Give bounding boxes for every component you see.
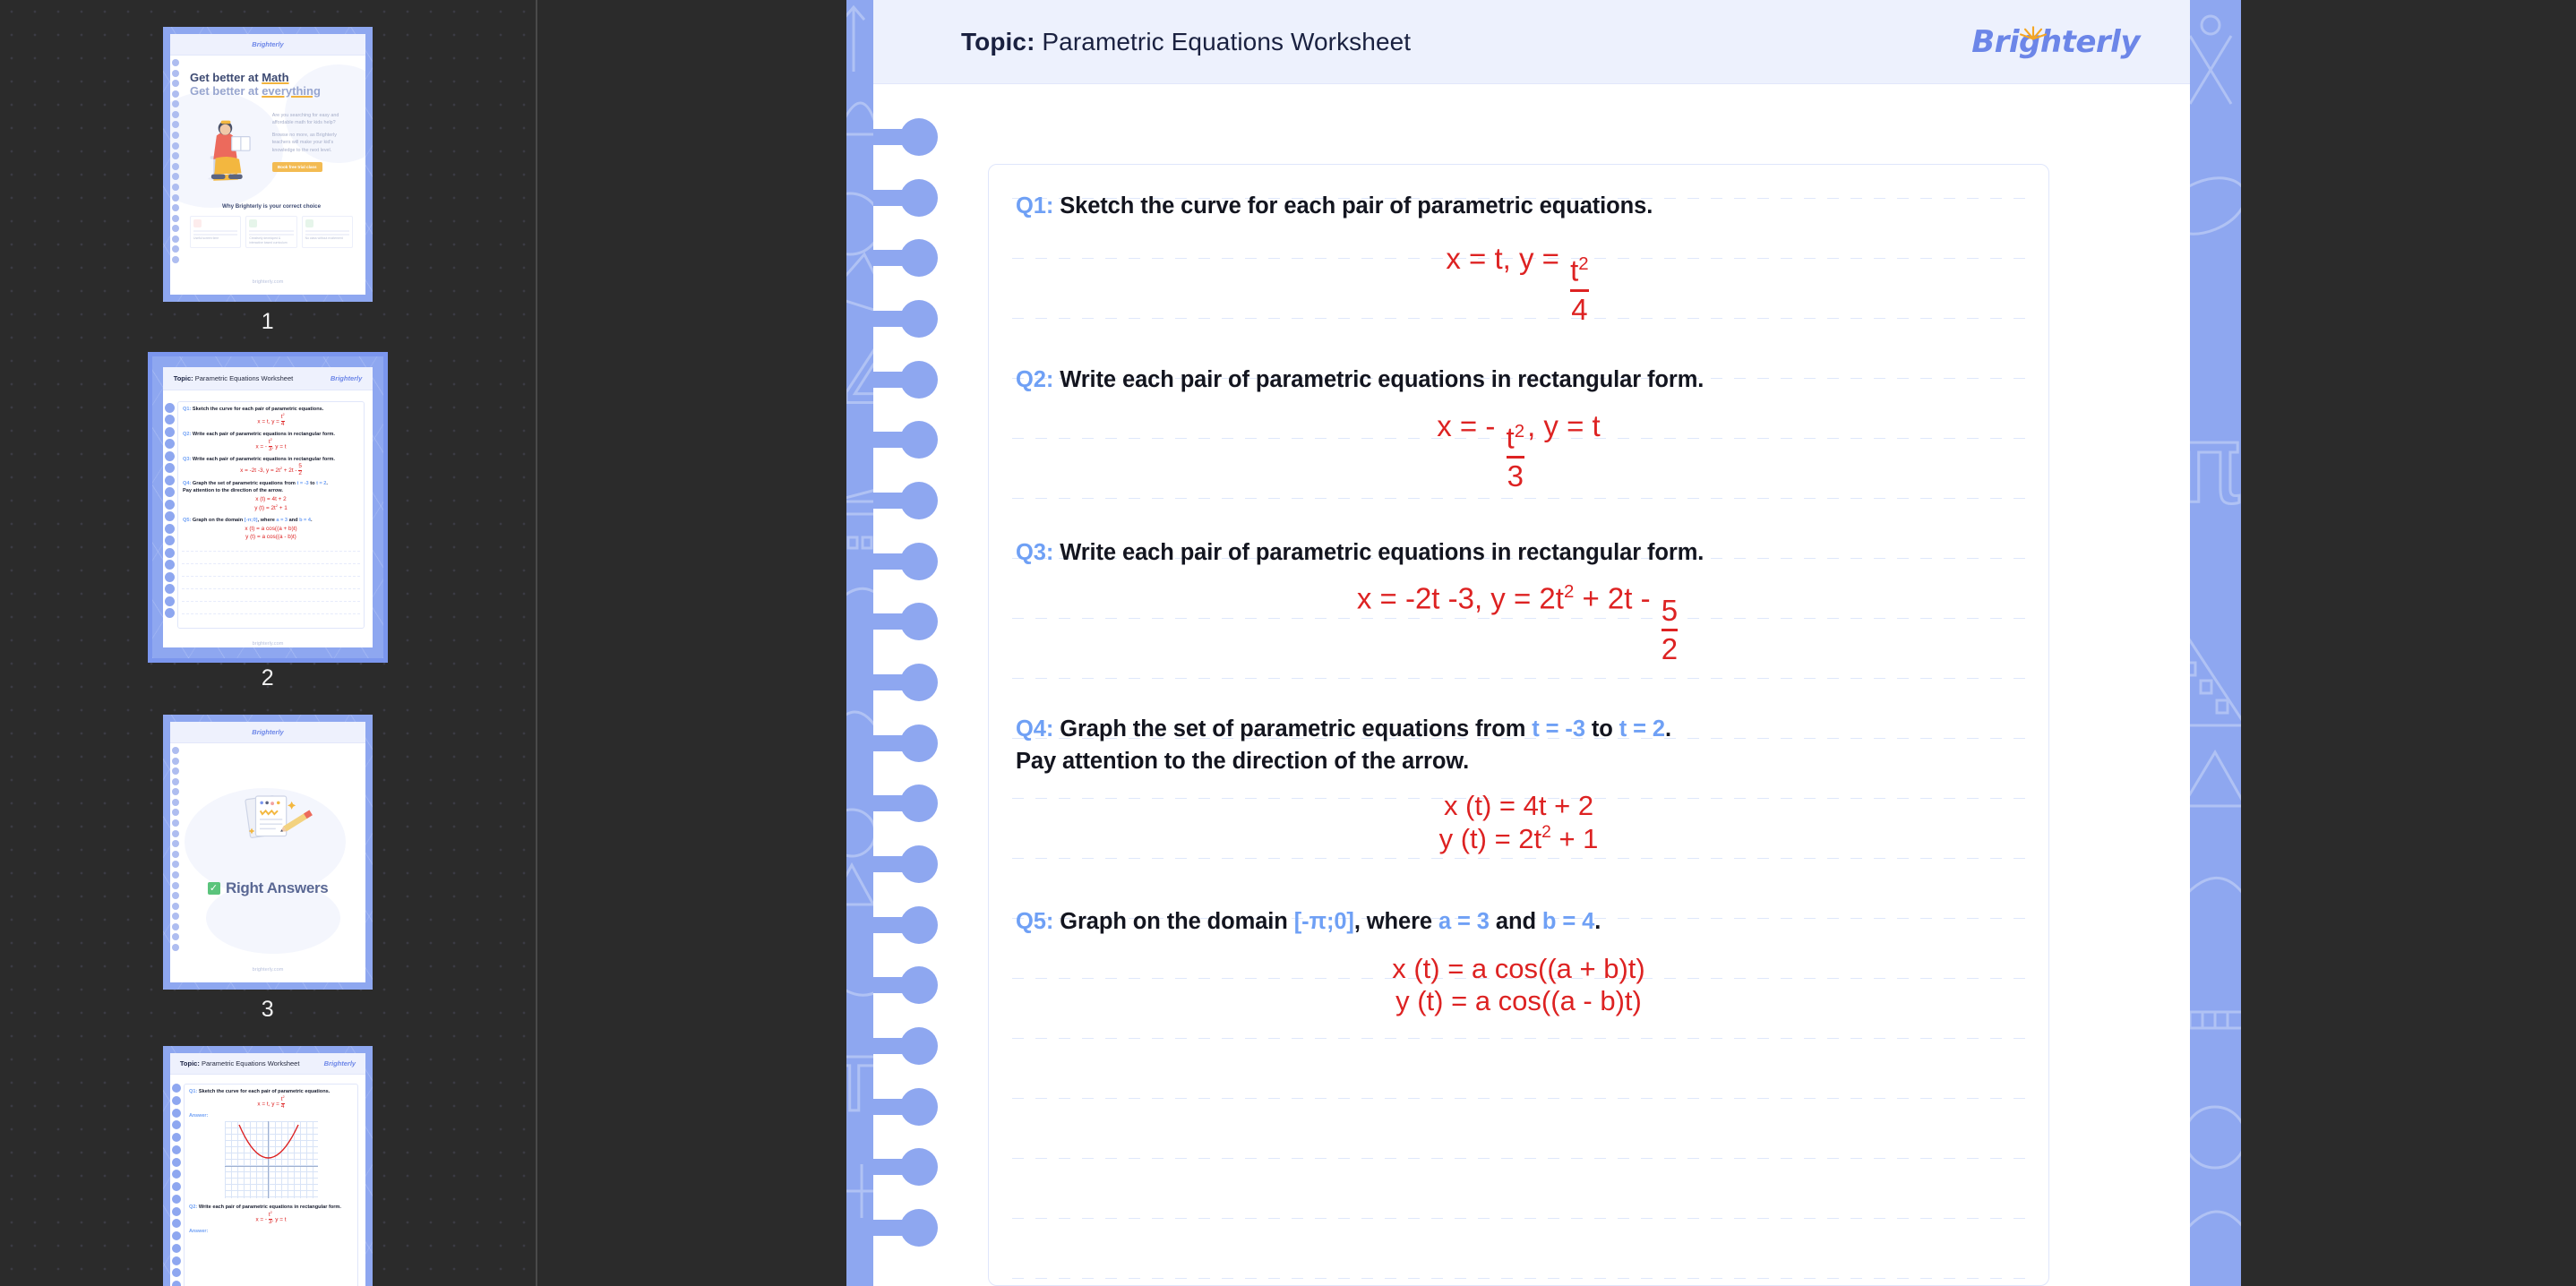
thumb-spiral-binding [172, 59, 179, 263]
thumb-header: Brighterly [170, 34, 365, 56]
thumbnail-page-number: 3 [262, 999, 274, 1021]
thumbnail-page-number: 1 [262, 311, 274, 333]
spiral-ring [873, 239, 954, 277]
question-number: Q5: [1016, 909, 1053, 934]
spiral-ring [873, 1209, 954, 1247]
thumb-equation: x = t, y = t2 4 [189, 1096, 353, 1110]
question-item-q1: Q1: Sketch the curve for each pair of pa… [1016, 190, 2022, 324]
thumb-answer-label: Answer: [189, 1229, 353, 1234]
spiral-binding [873, 118, 954, 1247]
spiral-ring [873, 1148, 954, 1186]
brighterly-logo: Brighterly [1971, 24, 2140, 60]
right-answers-title: Right Answers [226, 879, 329, 896]
question-number: Q1: [1016, 193, 1053, 219]
thumb-header: Brighterly [170, 722, 365, 743]
question-number: Q4: [1016, 716, 1053, 742]
thumbnail-frame-selected: Topic: Parametric Equations Worksheet Br… [152, 356, 383, 658]
spiral-ring [873, 603, 954, 640]
spiral-ring [873, 361, 954, 399]
question-text: Q3: Write each pair of parametric equati… [1016, 536, 2022, 569]
thumb-header: Topic: Parametric Equations Worksheet Br… [163, 367, 373, 390]
thumbnail-preview: Brighterly [170, 722, 365, 982]
check-box-icon: ✓ [208, 882, 220, 895]
thumbnail-frame: Brighterly [163, 715, 373, 990]
domain-value: [-π;0] [1294, 909, 1354, 934]
thumb-footer: brighterly.com [170, 273, 365, 291]
question-text: Q1: Sketch the curve for each pair of pa… [1016, 190, 2022, 222]
page-title: Topic: Parametric Equations Worksheet [961, 28, 1411, 56]
question-text: Q4: Graph the set of parametric equation… [1016, 713, 2022, 777]
thumb-question: Q2: Write each pair of parametric equati… [189, 1204, 353, 1211]
thumb-footer: brighterly.com [170, 961, 365, 979]
question-prompt: Sketch the curve for each pair of parame… [1060, 193, 1653, 219]
thumb-spiral-binding [172, 747, 179, 951]
thumb-answer-label: Answer: [189, 1113, 353, 1119]
thumb-spiral-binding [172, 1084, 181, 1286]
cover-feature-card: Useful screen time [190, 216, 241, 248]
thumb-topic: Topic: Parametric Equations Worksheet [180, 1059, 300, 1067]
question-equation: x (t) = 4t + 2 y (t) = 2t2 + 1 [1016, 790, 2022, 855]
thumb-logo: Brighterly [252, 40, 283, 48]
fraction: 52 [1662, 596, 1678, 664]
page-header: Topic: Parametric Equations Worksheet [873, 0, 2190, 84]
thumbnail-page-2[interactable]: Topic: Parametric Equations Worksheet Br… [0, 356, 536, 690]
spiral-ring [873, 543, 954, 580]
right-answers-title-row: ✓ Right Answers [170, 879, 365, 897]
question-text: Q5: Graph on the domain [-π;0], where a … [1016, 905, 2022, 938]
thumb-question: Q4: Graph the set of parametric equation… [183, 480, 359, 494]
thumbnail-page-4[interactable]: Topic: Parametric Equations Worksheet Br… [0, 1046, 536, 1286]
question-text: Q2: Write each pair of parametric equati… [1016, 364, 2022, 396]
thumb-question: Q2: Write each pair of parametric equati… [183, 431, 359, 438]
cover-why-title: Why Brighterly is your correct choice [190, 203, 353, 210]
question-prompt: Write each pair of parametric equations … [1060, 540, 1704, 565]
topic-value: Parametric Equations Worksheet [1042, 28, 1411, 56]
thumb-equation: x = -2t -3, y = 2t2 + 2t - 5 2 [183, 464, 359, 476]
question-number: Q3: [1016, 540, 1053, 565]
thumb-spiral-binding [165, 403, 175, 618]
worksheet-sheet: 4 π π [846, 0, 2241, 1286]
question-number: Q2: [1016, 367, 1053, 392]
thumbnail-page-3[interactable]: Brighterly [0, 715, 536, 1021]
thumb-logo: Brighterly [324, 1059, 356, 1067]
topic-label: Topic: [961, 28, 1035, 56]
thumb-question-card: Q1: Sketch the curve for each pair of pa… [177, 401, 365, 629]
cover-feature-caption: No class without excitement [305, 236, 349, 241]
thumb-question: Q1: Sketch the curve for each pair of pa… [189, 1088, 353, 1095]
logo-wordmark: Brighterly [1971, 24, 2140, 60]
rocket-icon [305, 219, 313, 227]
spiral-ring [873, 421, 954, 459]
question-item-q4: Q4: Graph the set of parametric equation… [1016, 713, 2022, 856]
question-item-q3: Q3: Write each pair of parametric equati… [1016, 536, 2022, 664]
thumb-equation: x = - t2 3, y = t [189, 1212, 353, 1225]
puzzle-icon [249, 219, 257, 227]
cover-paragraph-2: Browse no more, as Brighterly teachers w… [272, 132, 353, 153]
spiral-ring [873, 1088, 954, 1126]
question-card: Q1: Sketch the curve for each pair of pa… [988, 164, 2049, 1286]
question-equation: x (t) = a cos((a + b)t) y (t) = a cos((a… [1016, 953, 2022, 1018]
fraction: t24 [1570, 255, 1589, 324]
cover-paragraph-1: Are you searching for easy and affordabl… [272, 112, 353, 126]
worksheet-viewer: Brighterly Get better at Math [0, 0, 2576, 1286]
thumb-topic: Topic: Parametric Equations Worksheet [174, 374, 294, 382]
range-to: t = 2 [1619, 716, 1665, 742]
range-from: t = -3 [1532, 716, 1585, 742]
cover-feature-card: No class without excitement [302, 216, 353, 248]
page-thumbnail-rail[interactable]: Brighterly Get better at Math [0, 0, 536, 1286]
question-list: Q1: Sketch the curve for each pair of pa… [989, 165, 2048, 1018]
spiral-ring [873, 1027, 954, 1065]
spiral-ring [873, 482, 954, 519]
spiral-ring [873, 300, 954, 338]
question-equation: x = - t23, y = t [1016, 409, 2022, 492]
paper-pencil-illustration [242, 793, 319, 845]
spiral-ring [873, 845, 954, 883]
question-equation: x = -2t -3, y = 2t2 + 2t - 52 [1016, 581, 2022, 664]
thumbnail-preview: Topic: Parametric Equations Worksheet Br… [163, 367, 373, 647]
clock-icon [193, 219, 202, 227]
question-prompt: Write each pair of parametric equations … [1060, 367, 1704, 392]
param-a: a = 3 [1438, 909, 1490, 934]
thumbnail-preview: Topic: Parametric Equations Worksheet Br… [170, 1053, 365, 1286]
cover-feature-caption: Creatively developed & interactive based… [249, 236, 293, 244]
thumb-question: Q3: Write each pair of parametric equati… [183, 456, 359, 463]
thumb-logo: Brighterly [252, 728, 283, 736]
spiral-ring [873, 966, 954, 1004]
thumb-question: Q5: Graph on the domain [-π;0], where a … [183, 517, 359, 524]
thumbnail-frame: Topic: Parametric Equations Worksheet Br… [163, 1046, 373, 1286]
cover-cta-button[interactable]: Book free trial class [272, 162, 322, 172]
spiral-ring [873, 664, 954, 701]
worksheet-page: Topic: Parametric Equations Worksheet [873, 0, 2190, 1286]
thumb-answer-card: Q1: Sketch the curve for each pair of pa… [184, 1084, 358, 1286]
cover-feature-card: Creatively developed & interactive based… [245, 216, 296, 248]
spiral-ring [873, 724, 954, 762]
thumb-footer: brighterly.com [163, 634, 373, 647]
question-equation: x = t, y = t24 [1016, 242, 2022, 324]
cover-heading-2: Get better at everything [190, 85, 353, 99]
thumbnail-frame: Brighterly Get better at Math [163, 27, 373, 302]
thumbnail-preview: Brighterly Get better at Math [170, 34, 365, 295]
question-prompt-line2: Pay attention to the direction of the ar… [1016, 749, 1469, 774]
spiral-ring [873, 118, 954, 156]
question-item-q2: Q2: Write each pair of parametric equati… [1016, 364, 2022, 491]
sun-rays-icon [2018, 13, 2048, 29]
thumbnail-page-1[interactable]: Brighterly Get better at Math [0, 27, 536, 333]
cover-heading-1: Get better at Math [190, 72, 353, 85]
thumb-graph [225, 1121, 318, 1198]
document-stage: 4 π π [537, 0, 2576, 1286]
fraction: t23 [1507, 423, 1525, 492]
cover-feature-caption: Useful screen time [193, 236, 237, 241]
thumb-equation: x (t) = 4t + 2 y (t) = 2t2 + 1 [183, 495, 359, 512]
thumb-equation: x (t) = a cos((a + b)t) y (t) = a cos((a… [183, 525, 359, 542]
spiral-ring [873, 784, 954, 822]
question-item-q5: Q5: Graph on the domain [-π;0], where a … [1016, 905, 2022, 1017]
thumbnail-page-number: 2 [262, 667, 274, 690]
thumb-equation: x = - t2 3, y = t [183, 439, 359, 452]
spiral-ring [873, 179, 954, 217]
question-prompt: Graph the set of parametric equations fr… [1060, 716, 1532, 742]
spiral-ring [873, 906, 954, 944]
thumb-equation: x = t, y = t2 4 [183, 414, 359, 427]
cover-illustration [190, 112, 265, 182]
thumb-header: Topic: Parametric Equations Worksheet Br… [170, 1053, 365, 1075]
thumb-question: Q1: Sketch the curve for each pair of pa… [183, 406, 359, 413]
param-b: b = 4 [1542, 909, 1594, 934]
thumb-logo: Brighterly [331, 374, 362, 382]
